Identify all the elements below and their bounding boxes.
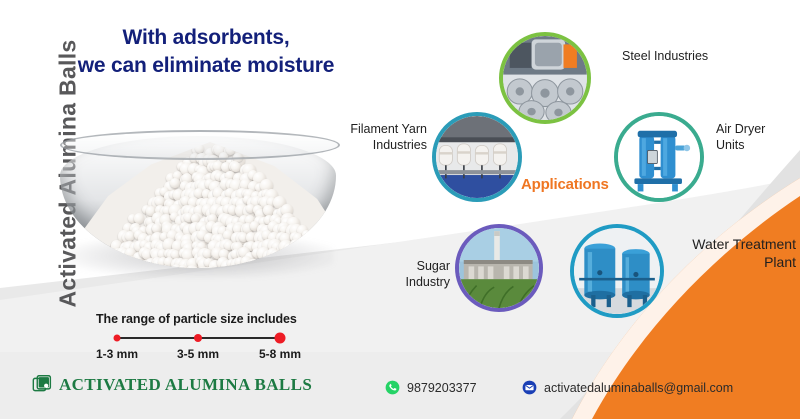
phone-number: 9879203377 [407,381,477,395]
contact-email[interactable]: activatedaluminaballs@gmail.com [522,380,733,395]
headline-line-1: With adsorbents, [56,24,356,52]
particle-size-label-3: 5-8 mm [259,347,301,361]
brand-lockup: ACTIVATED ALUMINA BALLS [32,374,312,395]
bowl-rim [60,130,340,160]
particle-size-dot-2 [194,334,202,342]
application-circle-water-treatment-plant[interactable] [570,224,664,318]
whatsapp-icon [385,380,400,395]
infographic-poster: Activated Alumina Balls With adsorbents,… [0,0,800,419]
application-circle-sugar-industry[interactable] [455,224,543,312]
application-circle-steel-industries[interactable] [499,32,591,124]
particle-size-dot-1 [114,335,121,342]
application-circle-filament-yarn-industries[interactable] [432,112,522,202]
alumina-ball-field [76,142,336,268]
application-label-water-treatment-plant: Water Treatment Plant [686,236,796,272]
application-label-steel-industries: Steel Industries [622,48,742,64]
application-label-sugar-industry: Sugar Industry [374,258,450,290]
application-photo-steel-industries [503,36,587,120]
headline-line-2: we can eliminate moisture [56,52,356,80]
square-frame-logo-icon [32,374,53,395]
particle-size-label-1: 1-3 mm [96,347,138,361]
particle-size-label-2: 3-5 mm [177,347,219,361]
application-label-filament-yarn-industries: Filament Yarn Industries [341,121,427,153]
application-photo-filament-yarn-industries [436,116,518,198]
email-address: activatedaluminaballs@gmail.com [544,381,733,395]
particle-size-dot-3 [275,333,286,344]
applications-heading: Applications [521,176,609,193]
particle-size-title: The range of particle size includes [96,312,297,326]
application-photo-water-treatment-plant [574,228,660,314]
application-label-air-dryer-units: Air Dryer Units [716,121,796,153]
application-photo-air-dryer-units [618,116,700,198]
application-circle-air-dryer-units[interactable] [614,112,704,202]
contact-phone[interactable]: 9879203377 [385,380,477,395]
alumina-ball-heap [76,142,336,268]
application-photo-sugar-industry [459,228,539,308]
envelope-icon [522,380,537,395]
brand-name: ACTIVATED ALUMINA BALLS [59,375,312,395]
page-title: With adsorbents, we can eliminate moistu… [56,24,356,79]
alumina-balls-bowl-image [48,84,348,294]
